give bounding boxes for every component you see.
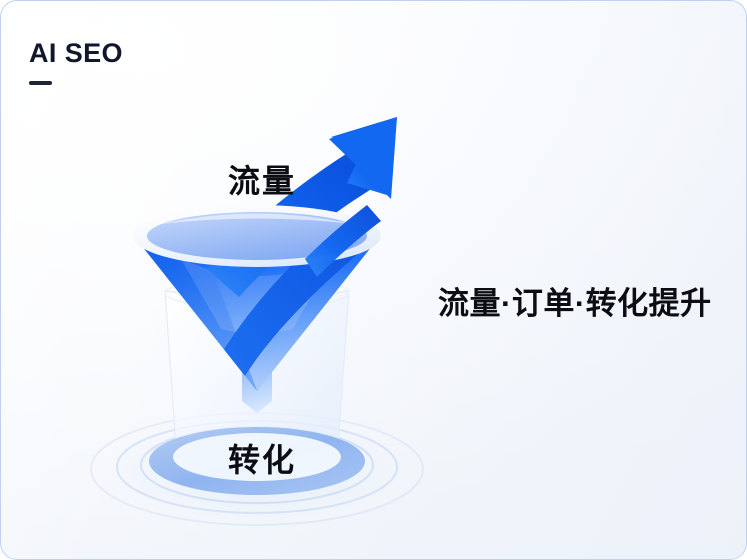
poster-canvas: AI SEO 流量·订单·转化提升 [0, 0, 747, 560]
title-underline-rule [29, 81, 52, 85]
label-traffic: 流量 [228, 156, 296, 202]
headline-text: 流量·订单·转化提升 [438, 278, 712, 323]
brand-title-block: AI SEO [29, 37, 123, 85]
label-conversion: 转化 [228, 435, 296, 481]
page-title: AI SEO [29, 37, 123, 69]
